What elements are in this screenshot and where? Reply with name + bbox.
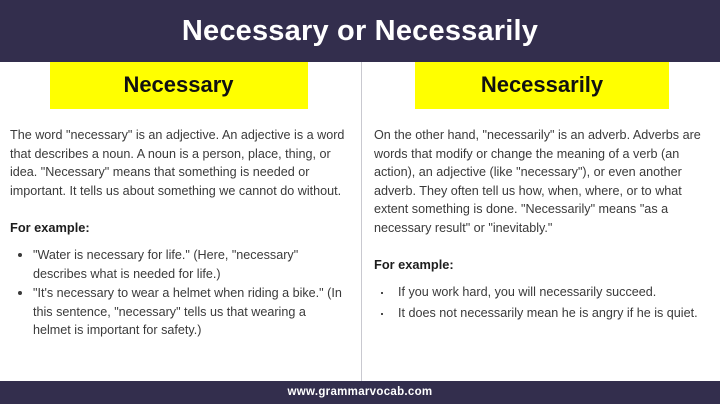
examples-list-necessarily: If you work hard, you will necessarily s… xyxy=(374,283,710,322)
infographic-card: Necessary or Necessarily Necessary The w… xyxy=(0,0,720,404)
definition-paragraph-necessarily: On the other hand, "necessarily" is an a… xyxy=(374,126,710,237)
column-heading-wrap-necessarily: Necessarily xyxy=(374,62,710,109)
footer-bar: www.grammarvocab.com xyxy=(0,381,720,404)
examples-list-necessary: "Water is necessary for life." (Here, "n… xyxy=(10,246,347,340)
column-necessarily: Necessarily On the other hand, "necessar… xyxy=(361,62,720,381)
column-heading-wrap-necessary: Necessary xyxy=(10,62,347,109)
examples-label-necessary: For example: xyxy=(10,219,347,237)
comparison-columns: Necessary The word "necessary" is an adj… xyxy=(0,62,720,381)
column-necessary: Necessary The word "necessary" is an adj… xyxy=(0,62,361,381)
examples-label-necessarily: For example: xyxy=(374,256,710,274)
list-item: "It's necessary to wear a helmet when ri… xyxy=(10,284,347,340)
column-heading-necessary: Necessary xyxy=(50,62,308,109)
page-title: Necessary or Necessarily xyxy=(182,17,538,46)
definition-paragraph-necessary: The word "necessary" is an adjective. An… xyxy=(10,126,347,200)
list-item: If you work hard, you will necessarily s… xyxy=(374,283,710,302)
footer-website: www.grammarvocab.com xyxy=(288,387,433,399)
column-heading-necessarily: Necessarily xyxy=(415,62,669,109)
list-item: It does not necessarily mean he is angry… xyxy=(374,304,710,323)
list-item: "Water is necessary for life." (Here, "n… xyxy=(10,246,347,283)
header-bar: Necessary or Necessarily xyxy=(0,0,720,62)
